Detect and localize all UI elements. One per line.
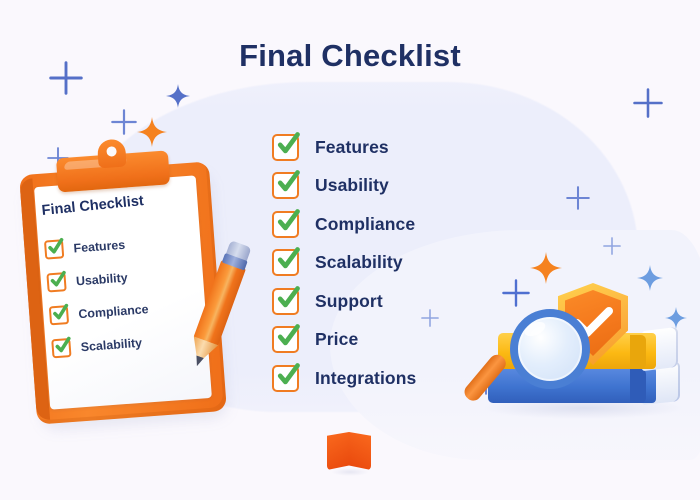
checklist-item-label: Scalability <box>315 252 403 273</box>
checkbox-checked-icon[interactable] <box>272 134 299 161</box>
check-icon <box>275 323 301 354</box>
check-icon <box>46 237 66 261</box>
clipboard-checklist: FeaturesUsabilityComplianceScalability <box>43 226 152 365</box>
checklist-item-label: Usability <box>315 175 389 196</box>
illustration-canvas: Final Checklist Final Checklist Features… <box>0 0 700 500</box>
yellow-book-spine <box>630 335 646 369</box>
checklist-item-usability[interactable]: Usability <box>272 167 502 206</box>
clipboard-illustration: Final Checklist FeaturesUsabilityComplia… <box>19 161 227 424</box>
open-book-icon <box>327 432 373 476</box>
checkbox-checked-icon <box>46 272 66 292</box>
check-icon <box>275 285 301 316</box>
blue-book-spine <box>630 369 646 403</box>
check-icon <box>275 208 301 239</box>
sparkle-plus-icon <box>111 109 137 135</box>
checkbox-checked-icon[interactable] <box>272 249 299 276</box>
sparkle-plus-icon <box>633 88 663 118</box>
check-icon <box>48 270 68 294</box>
checkbox-checked-icon[interactable] <box>272 288 299 315</box>
checklist-item-label: Integrations <box>315 368 416 389</box>
checkbox-checked-icon[interactable] <box>272 326 299 353</box>
checklist-item-label: Compliance <box>315 214 415 235</box>
open-book-right-page <box>349 432 371 470</box>
checkbox-checked-icon <box>49 305 69 325</box>
checkbox-checked-icon <box>44 239 64 259</box>
checkbox-checked-icon <box>51 338 71 358</box>
sparkle-plus-icon <box>603 237 621 255</box>
check-icon <box>275 362 301 393</box>
checklist-item-support[interactable]: Support <box>272 282 502 321</box>
checkbox-checked-icon[interactable] <box>272 172 299 199</box>
checklist-item-price[interactable]: Price <box>272 321 502 360</box>
sparkle-star-icon <box>137 117 167 147</box>
checklist-item-label: Support <box>315 291 383 312</box>
checkbox-checked-icon[interactable] <box>272 365 299 392</box>
sparkle-star-icon <box>166 84 190 108</box>
clipboard-item-label: Scalability <box>80 335 142 353</box>
checklist-item-label: Features <box>315 137 389 158</box>
check-icon <box>275 246 301 277</box>
checklist-item-compliance[interactable]: Compliance <box>272 205 502 244</box>
books-shield-illustration <box>480 285 690 430</box>
check-icon <box>51 303 71 327</box>
check-icon <box>53 336 73 360</box>
open-book-shadow <box>331 468 369 476</box>
check-icon <box>275 169 301 200</box>
main-checklist: FeaturesUsabilityComplianceScalabilitySu… <box>272 128 502 398</box>
magnifier-ring <box>510 309 590 389</box>
magnifying-glass-icon <box>492 307 584 399</box>
check-icon <box>275 131 301 162</box>
clipboard-item-label: Compliance <box>78 302 149 321</box>
checklist-item-scalability[interactable]: Scalability <box>272 244 502 283</box>
clipboard-item-label: Features <box>73 237 126 255</box>
sparkle-star-icon <box>530 252 562 284</box>
checklist-item-features[interactable]: Features <box>272 128 502 167</box>
checklist-item-label: Price <box>315 329 358 350</box>
checkbox-checked-icon[interactable] <box>272 211 299 238</box>
open-book-left-page <box>327 432 349 470</box>
clipboard-item-label: Usability <box>75 270 128 288</box>
page-title: Final Checklist <box>0 38 700 74</box>
sparkle-plus-icon <box>566 186 590 210</box>
